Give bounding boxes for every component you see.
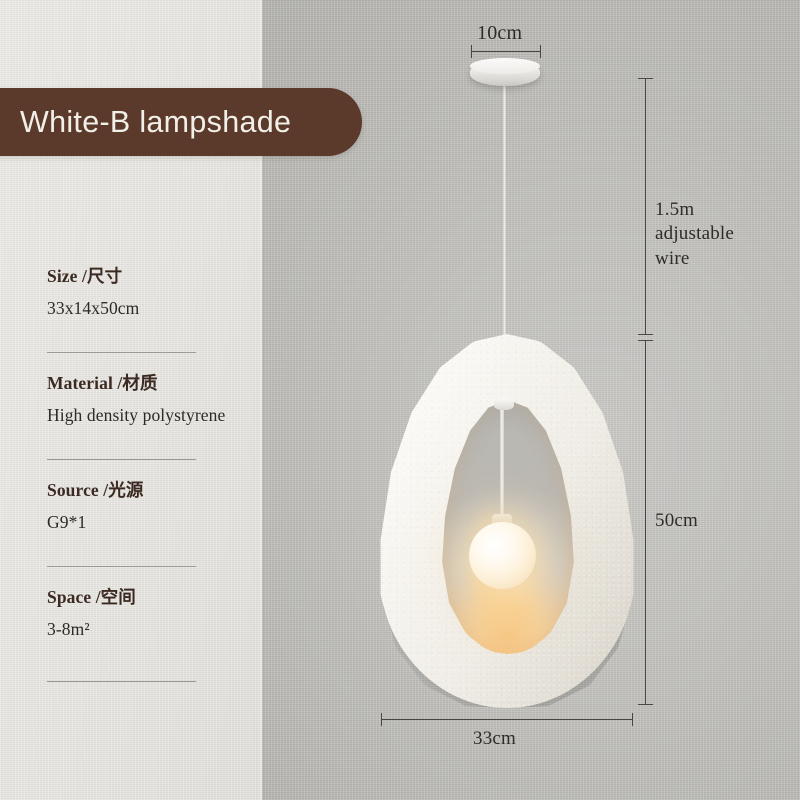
specification-list: Size /尺寸 33x14x50cm Material /材质 High de…	[47, 266, 252, 702]
globe-bulb	[469, 522, 536, 589]
dimension-tick-right	[540, 45, 541, 58]
product-title: White-B lampshade	[20, 105, 291, 140]
dimension-tick-left	[381, 713, 382, 726]
spec-item-size: Size /尺寸 33x14x50cm	[47, 266, 252, 338]
dimension-tick-left	[471, 45, 472, 58]
dimension-line-horizontal	[381, 719, 632, 720]
spec-label-space: Space /空间	[47, 587, 252, 609]
product-title-banner: White-B lampshade	[0, 88, 362, 156]
spec-value-material: High density polystyrene	[47, 404, 252, 427]
spec-divider-4	[47, 681, 196, 682]
spec-item-source: Source /光源 G9*1	[47, 480, 252, 552]
dimension-line-vertical	[645, 340, 646, 705]
dimension-tick-bottom	[638, 704, 653, 705]
spec-item-material: Material /材质 High density polystyrene	[47, 373, 252, 445]
spec-label-source: Source /光源	[47, 480, 252, 502]
spec-label-material: Material /材质	[47, 373, 252, 395]
spec-item-space: Space /空间 3-8m²	[47, 587, 252, 659]
bulb-rod-cap	[494, 398, 514, 410]
spec-value-size: 33x14x50cm	[47, 297, 252, 320]
dimension-label-wire-length: 1.5m adjustable wire	[655, 198, 773, 271]
dimension-tick-top	[638, 78, 653, 79]
spec-label-size: Size /尺寸	[47, 266, 252, 288]
bulb-rod	[500, 408, 504, 526]
dimension-tick-top	[638, 340, 653, 341]
product-spec-image: White-B lampshade Size /尺寸 33x14x50cm Ma…	[0, 0, 800, 800]
spec-divider-2	[47, 459, 196, 460]
dimension-line-horizontal	[471, 51, 541, 52]
dimension-label-canopy-width: 10cm	[477, 22, 522, 45]
spec-value-space: 3-8m²	[47, 618, 252, 641]
spec-divider-1	[47, 352, 196, 353]
ceiling-canopy-top	[470, 58, 540, 74]
spec-divider-3	[47, 566, 196, 567]
suspension-cord	[503, 82, 506, 344]
dimension-label-shade-width: 33cm	[473, 728, 516, 750]
dimension-label-shade-height: 50cm	[655, 510, 698, 532]
dimension-line-vertical	[645, 78, 646, 334]
dimension-tick-right	[632, 713, 633, 726]
dimension-tick-bottom	[638, 334, 653, 335]
spec-value-source: G9*1	[47, 511, 252, 534]
